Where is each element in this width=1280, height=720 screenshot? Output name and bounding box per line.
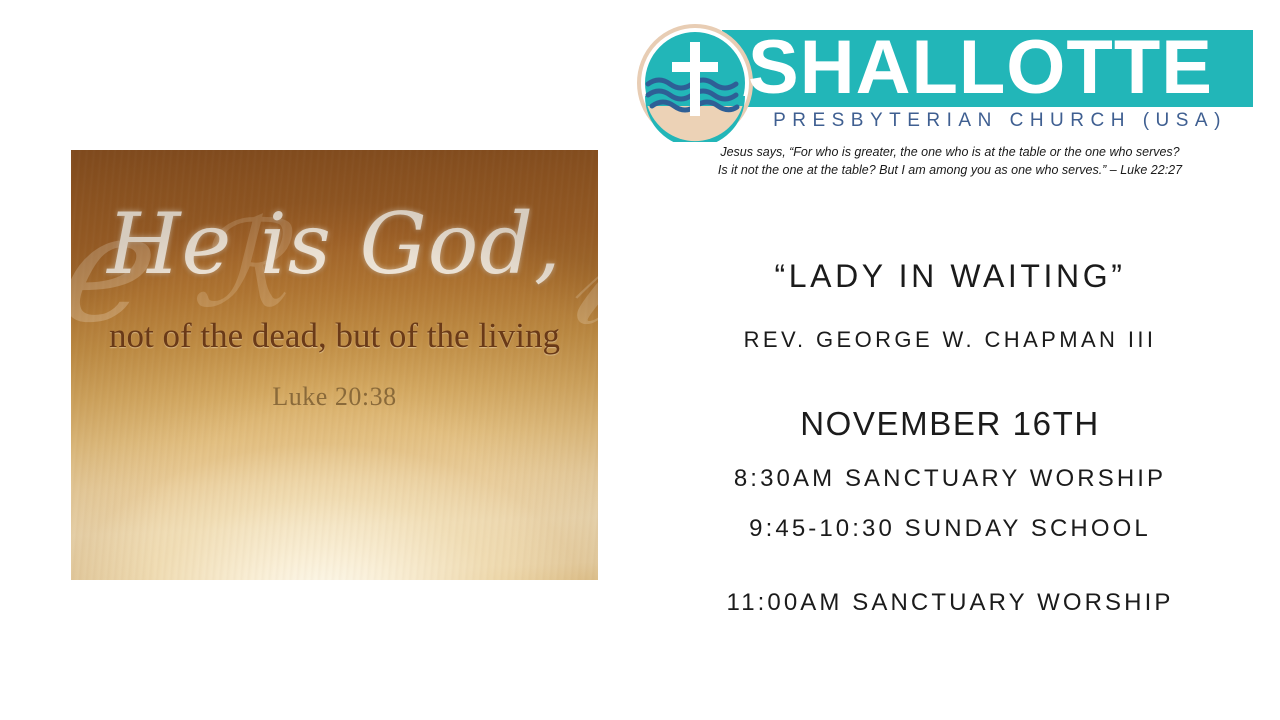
sermon-details: “LADY IN WAITING” REV. GEORGE W. CHAPMAN… [650,258,1250,617]
scripture-image: ℯ ℛ 𝒾 He is God, not of the dead, but of… [71,150,598,580]
service-date: NOVEMBER 16TH [650,405,1250,443]
sermon-title: “LADY IN WAITING” [650,258,1250,295]
service-time-sunday-school: 9:45-10:30 SUNDAY SCHOOL [650,515,1250,543]
scripture-quote-line-2: Is it not the one at the table? But I am… [670,162,1230,180]
church-logo: SHALLOTTE PRESBYTERIAN CHURCH (USA) [630,22,1260,142]
service-time-late-worship: 11:00AM SANCTUARY WORSHIP [650,589,1250,617]
scripture-quote-line-1: Jesus says, “For who is greater, the one… [670,144,1230,162]
service-time-early-worship: 8:30AM SANCTUARY WORSHIP [650,465,1250,493]
logo-wordmark: SHALLOTTE [748,26,1268,110]
scripture-quote: Jesus says, “For who is greater, the one… [670,144,1230,180]
sermon-preacher: REV. GEORGE W. CHAPMAN III [650,327,1250,353]
cross-over-waves-icon [636,24,754,142]
right-column: SHALLOTTE PRESBYTERIAN CHURCH (USA) Jesu… [630,0,1260,720]
logo-subtitle: PRESBYTERIAN CHURCH (USA) [742,110,1258,132]
image-vignette-overlay [71,150,598,580]
